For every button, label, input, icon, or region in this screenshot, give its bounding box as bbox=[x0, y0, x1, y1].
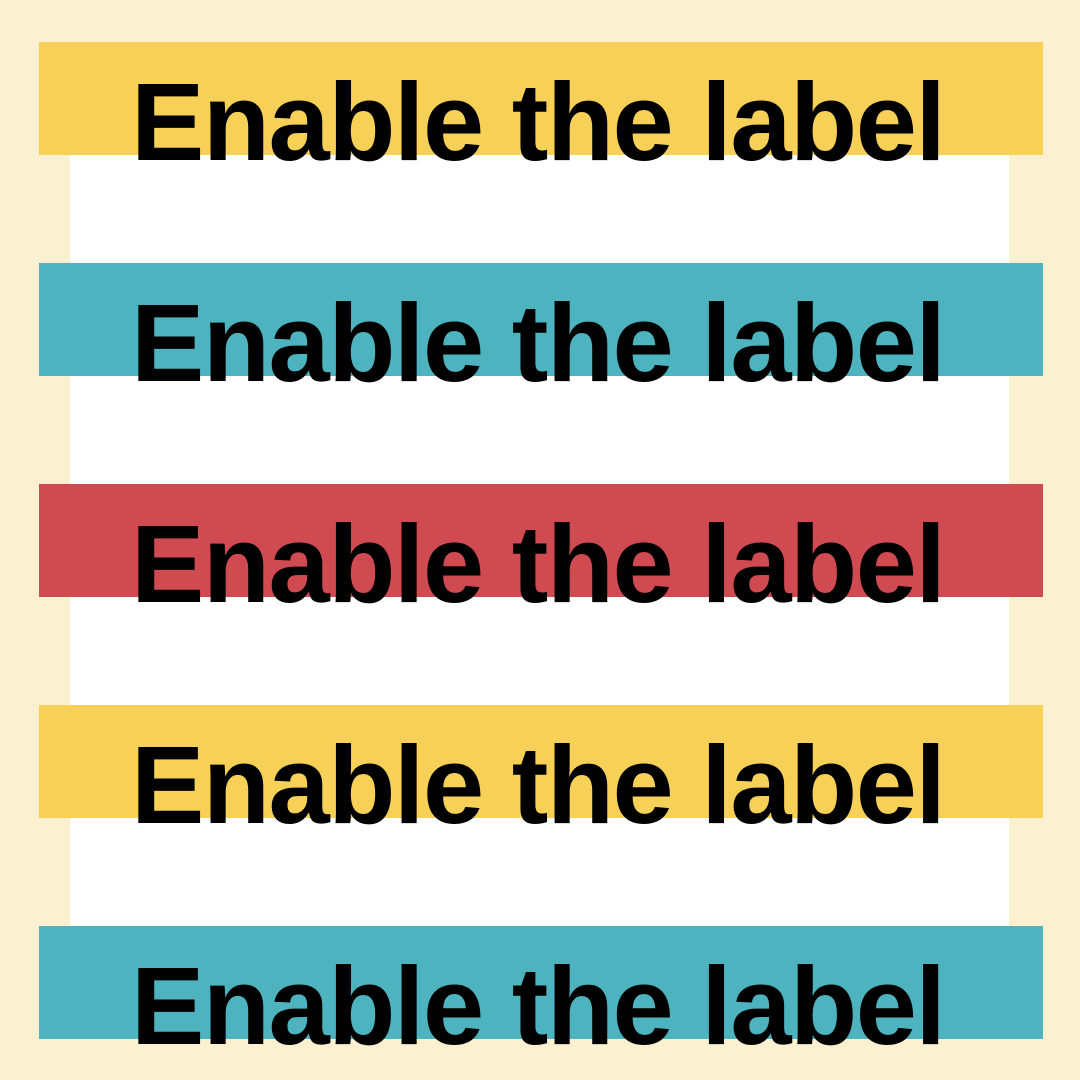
list-item[interactable]: Enable the label bbox=[39, 263, 1043, 376]
label-text: Enable the label bbox=[131, 731, 944, 841]
label-text: Enable the label bbox=[131, 289, 944, 399]
label-list: Enable the label Enable the label Enable… bbox=[0, 0, 1080, 1080]
list-item[interactable]: Enable the label bbox=[39, 484, 1043, 597]
label-text: Enable the label bbox=[131, 952, 944, 1062]
page-canvas: Enable the label Enable the label Enable… bbox=[0, 0, 1080, 1080]
label-text: Enable the label bbox=[131, 68, 944, 178]
list-item[interactable]: Enable the label bbox=[39, 42, 1043, 155]
list-item[interactable]: Enable the label bbox=[39, 926, 1043, 1039]
label-text: Enable the label bbox=[131, 510, 944, 620]
list-item[interactable]: Enable the label bbox=[39, 705, 1043, 818]
